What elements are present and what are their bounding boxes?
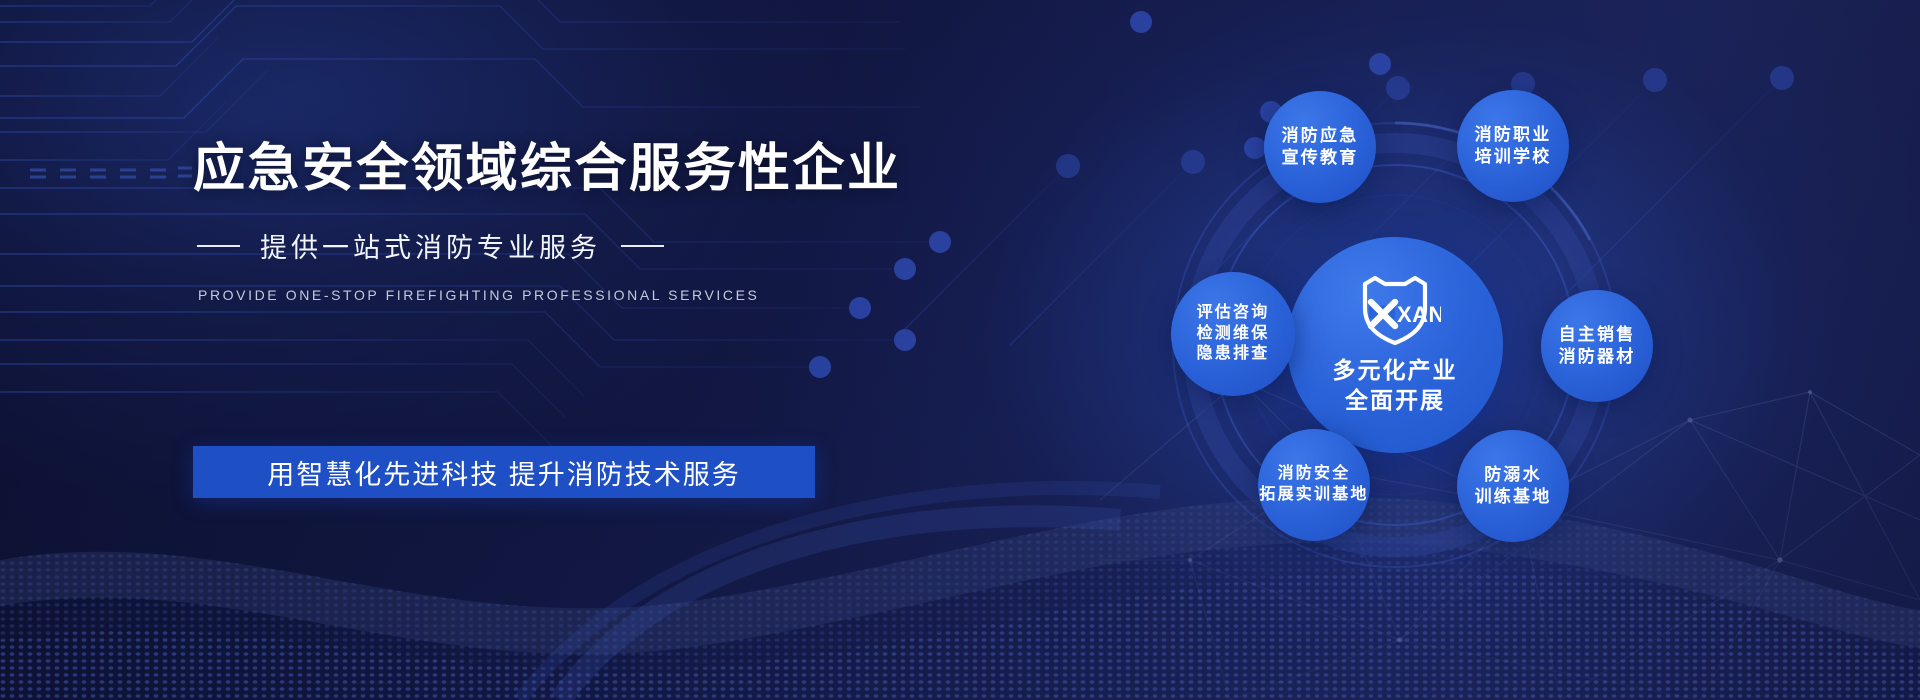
node-line-1: 消防安全 <box>1278 464 1351 485</box>
rule-right-icon <box>621 245 664 247</box>
node-vocational-training-school[interactable]: 消防职业 培训学校 <box>1457 90 1569 202</box>
node-line-2: 检测维保 <box>1197 324 1270 345</box>
node-assessment-inspection[interactable]: 评估咨询 检测维保 隐患排查 <box>1171 272 1295 396</box>
headline-block: 应急安全领域综合服务性企业 提供一站式消防专业服务 PROVIDE ONE-ST… <box>193 140 953 303</box>
center-line-1: 多元化产业 <box>1333 356 1458 386</box>
rule-left-icon <box>197 245 240 247</box>
node-line-1: 消防职业 <box>1475 124 1552 146</box>
node-equipment-sales[interactable]: 自主销售 消防器材 <box>1541 290 1653 402</box>
industry-diagram: XAN 多元化产业 全面开展 消防应急 宣传教育 消防职业 培训学校 自主销售 … <box>1135 85 1655 605</box>
node-line-1: 消防应急 <box>1282 125 1359 147</box>
center-line-2: 全面开展 <box>1333 386 1458 416</box>
node-fire-emergency-education[interactable]: 消防应急 宣传教育 <box>1264 91 1376 203</box>
node-line-2: 消防器材 <box>1559 346 1636 368</box>
diagram-center-node[interactable]: XAN 多元化产业 全面开展 <box>1287 237 1503 453</box>
node-line-2: 宣传教育 <box>1282 147 1359 169</box>
node-line-1: 自主销售 <box>1559 324 1636 346</box>
node-safety-training-base[interactable]: 消防安全 拓展实训基地 <box>1258 429 1370 541</box>
node-line-2: 训练基地 <box>1475 486 1552 508</box>
cta-label: 用智慧化先进科技 提升消防技术服务 <box>267 453 741 492</box>
node-line-3: 隐患排查 <box>1197 344 1270 365</box>
cta-banner-button[interactable]: 用智慧化先进科技 提升消防技术服务 <box>193 446 815 498</box>
node-drowning-prevention-base[interactable]: 防溺水 训练基地 <box>1457 430 1569 542</box>
subtitle: 提供一站式消防专业服务 <box>260 226 601 265</box>
node-line-2: 拓展实训基地 <box>1259 485 1368 506</box>
node-line-1: 防溺水 <box>1484 464 1542 486</box>
english-tagline: PROVIDE ONE-STOP FIREFIGHTING PROFESSION… <box>198 287 953 303</box>
banner-stage: 应急安全领域综合服务性企业 提供一站式消防专业服务 PROVIDE ONE-ST… <box>0 0 1920 700</box>
xan-shield-logo-icon: XAN <box>1349 274 1441 348</box>
subtitle-row: 提供一站式消防专业服务 <box>197 226 953 265</box>
page-title: 应急安全领域综合服务性企业 <box>193 140 953 198</box>
svg-text:XAN: XAN <box>1397 302 1441 327</box>
node-line-2: 培训学校 <box>1475 146 1552 168</box>
node-line-1: 评估咨询 <box>1197 303 1270 324</box>
center-node-text: 多元化产业 全面开展 <box>1333 356 1458 416</box>
